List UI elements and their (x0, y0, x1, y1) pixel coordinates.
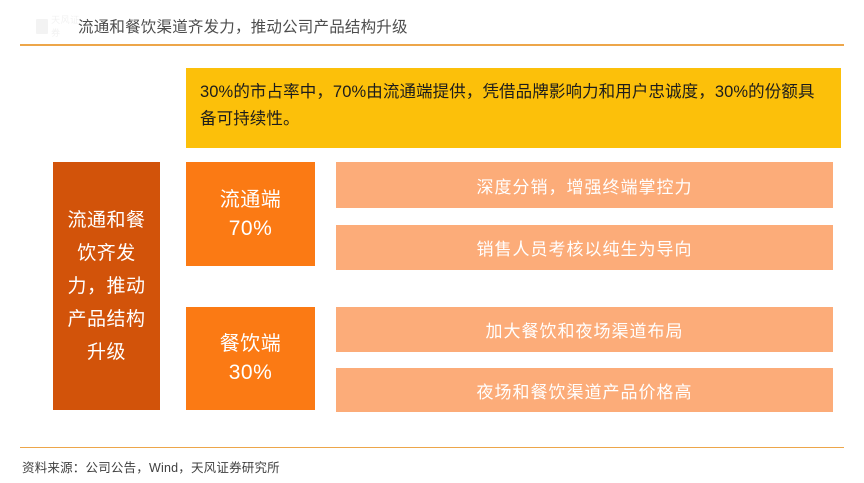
detail-bar: 销售人员考核以纯生为导向 (336, 225, 833, 270)
header-divider (20, 44, 844, 46)
key-insight-text: 30%的市占率中，70%由流通端提供，凭借品牌影响力和用户忠诚度，30%的份额具… (200, 79, 829, 133)
company-logo-watermark-icon: 天风证券 (36, 16, 82, 36)
source-note: 资料来源：公司公告，Wind，天风证券研究所 (22, 457, 280, 476)
logo-mark-icon (36, 19, 48, 34)
channel-percent: 30% (229, 358, 273, 387)
page-title: 流通和餐饮渠道齐发力，推动公司产品结构升级 (78, 15, 408, 37)
left-summary-text: 流通和餐饮齐发力，推动产品结构升级 (67, 204, 146, 369)
channel-box-distribution: 流通端 70% (186, 162, 315, 266)
channel-name: 餐饮端 (220, 330, 282, 358)
footer-divider (20, 447, 844, 448)
channel-name: 流通端 (220, 186, 282, 214)
slide-canvas: 天风证券 流通和餐饮渠道齐发力，推动公司产品结构升级 30%的市占率中，70%由… (0, 0, 864, 483)
detail-bar: 深度分销，增强终端掌控力 (336, 162, 833, 208)
channel-percent: 70% (229, 214, 273, 243)
detail-bar: 夜场和餐饮渠道产品价格高 (336, 368, 833, 412)
detail-bar: 加大餐饮和夜场渠道布局 (336, 307, 833, 352)
channel-box-catering: 餐饮端 30% (186, 307, 315, 410)
key-insight-callout: 30%的市占率中，70%由流通端提供，凭借品牌影响力和用户忠诚度，30%的份额具… (186, 68, 841, 148)
left-summary-panel: 流通和餐饮齐发力，推动产品结构升级 (53, 162, 160, 410)
